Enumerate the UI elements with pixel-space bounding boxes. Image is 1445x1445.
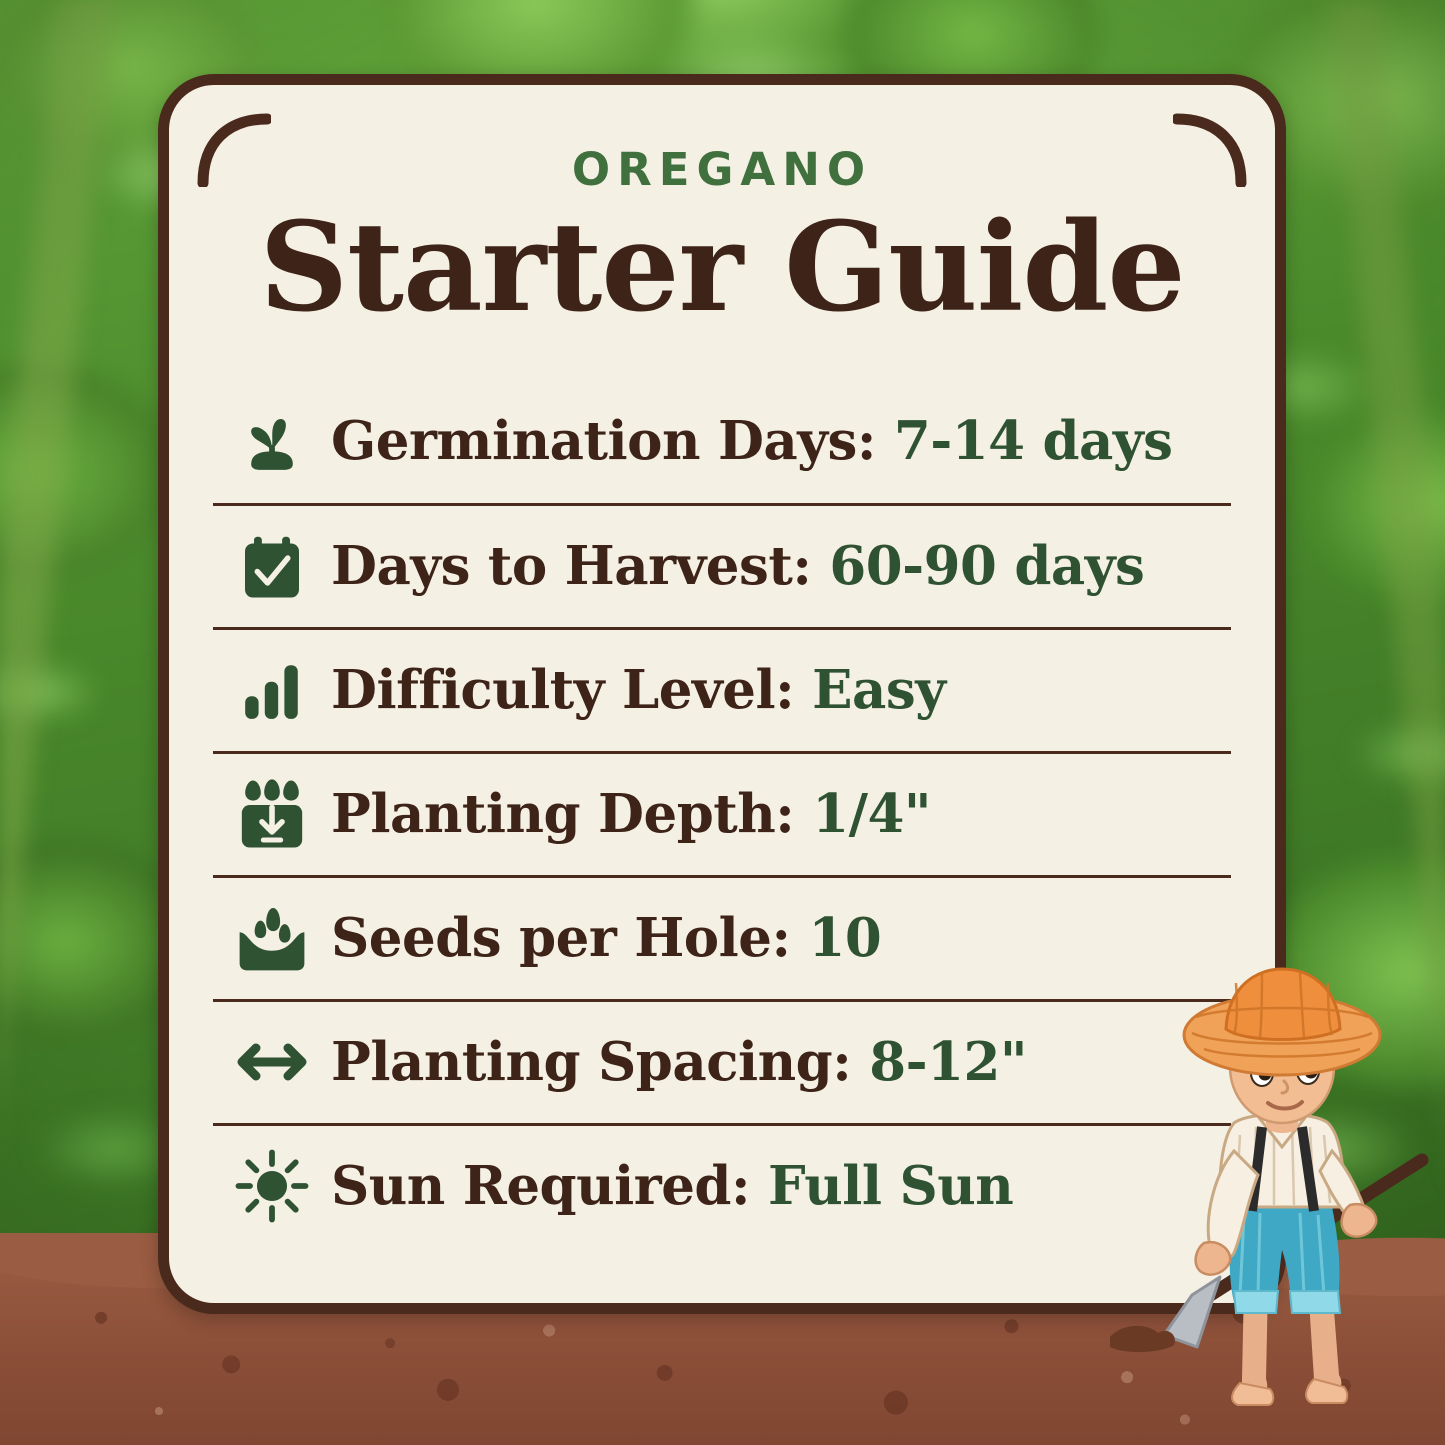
list-item: Sun Required: Full Sun [213,1123,1231,1247]
list-item: Difficulty Level: Easy [213,627,1231,751]
list-item: Planting Spacing: 8-12" [213,999,1231,1123]
hand-right [1342,1204,1377,1236]
list-item-label: Planting Spacing: [331,1031,869,1093]
corner-flourish-top-left-icon [197,113,271,187]
list-item-text: Difficulty Level: Easy [331,659,946,721]
sun-icon [213,1149,331,1223]
list-item: Germination Days: 7-14 days [213,379,1231,503]
list-item-text: Germination Days: 7-14 days [331,410,1173,472]
seeds-in-hole-icon [213,902,331,974]
list-item-value: Easy [812,659,945,721]
list-item-label: Sun Required: [331,1155,768,1217]
hand-left [1196,1242,1231,1274]
list-item-label: Germination Days: [331,410,894,472]
list-item: Days to Harvest: 60-90 days [213,503,1231,627]
card-header: OREGANO Starter Guide [169,85,1275,335]
list-item-text: Seeds per Hole: 10 [331,907,881,969]
list-item-value: Full Sun [768,1155,1013,1217]
horizontal-arrow-icon [213,1036,331,1088]
list-item-value: 8-12" [869,1031,1027,1093]
hat-crown [1226,969,1340,1040]
page-title: Starter Guide [169,202,1275,335]
list-item-value: 60-90 days [829,535,1144,597]
calendar-check-icon [213,530,331,602]
bar-chart-icon [213,657,331,723]
list-item-text: Days to Harvest: 60-90 days [331,535,1144,597]
list-item-label: Seeds per Hole: [331,907,809,969]
list-item-text: Planting Depth: 1/4" [331,783,931,845]
list-item: Planting Depth: 1/4" [213,751,1231,875]
sprout-icon [213,404,331,478]
plant-name: OREGANO [169,143,1275,196]
corner-flourish-top-right-icon [1173,113,1247,187]
list-item-text: Sun Required: Full Sun [331,1155,1013,1217]
list-item-value: 7-14 days [894,410,1173,472]
list-item-label: Planting Depth: [331,783,812,845]
planting-depth-icon [213,776,331,852]
list-item-value: 10 [809,907,882,969]
list-item-label: Difficulty Level: [331,659,812,721]
list-item-value: 1/4" [812,783,931,845]
gardener-illustration [1092,955,1445,1445]
list-item: Seeds per Hole: 10 [213,875,1231,999]
list-item-text: Planting Spacing: 8-12" [331,1031,1027,1093]
list-item-label: Days to Harvest: [331,535,829,597]
